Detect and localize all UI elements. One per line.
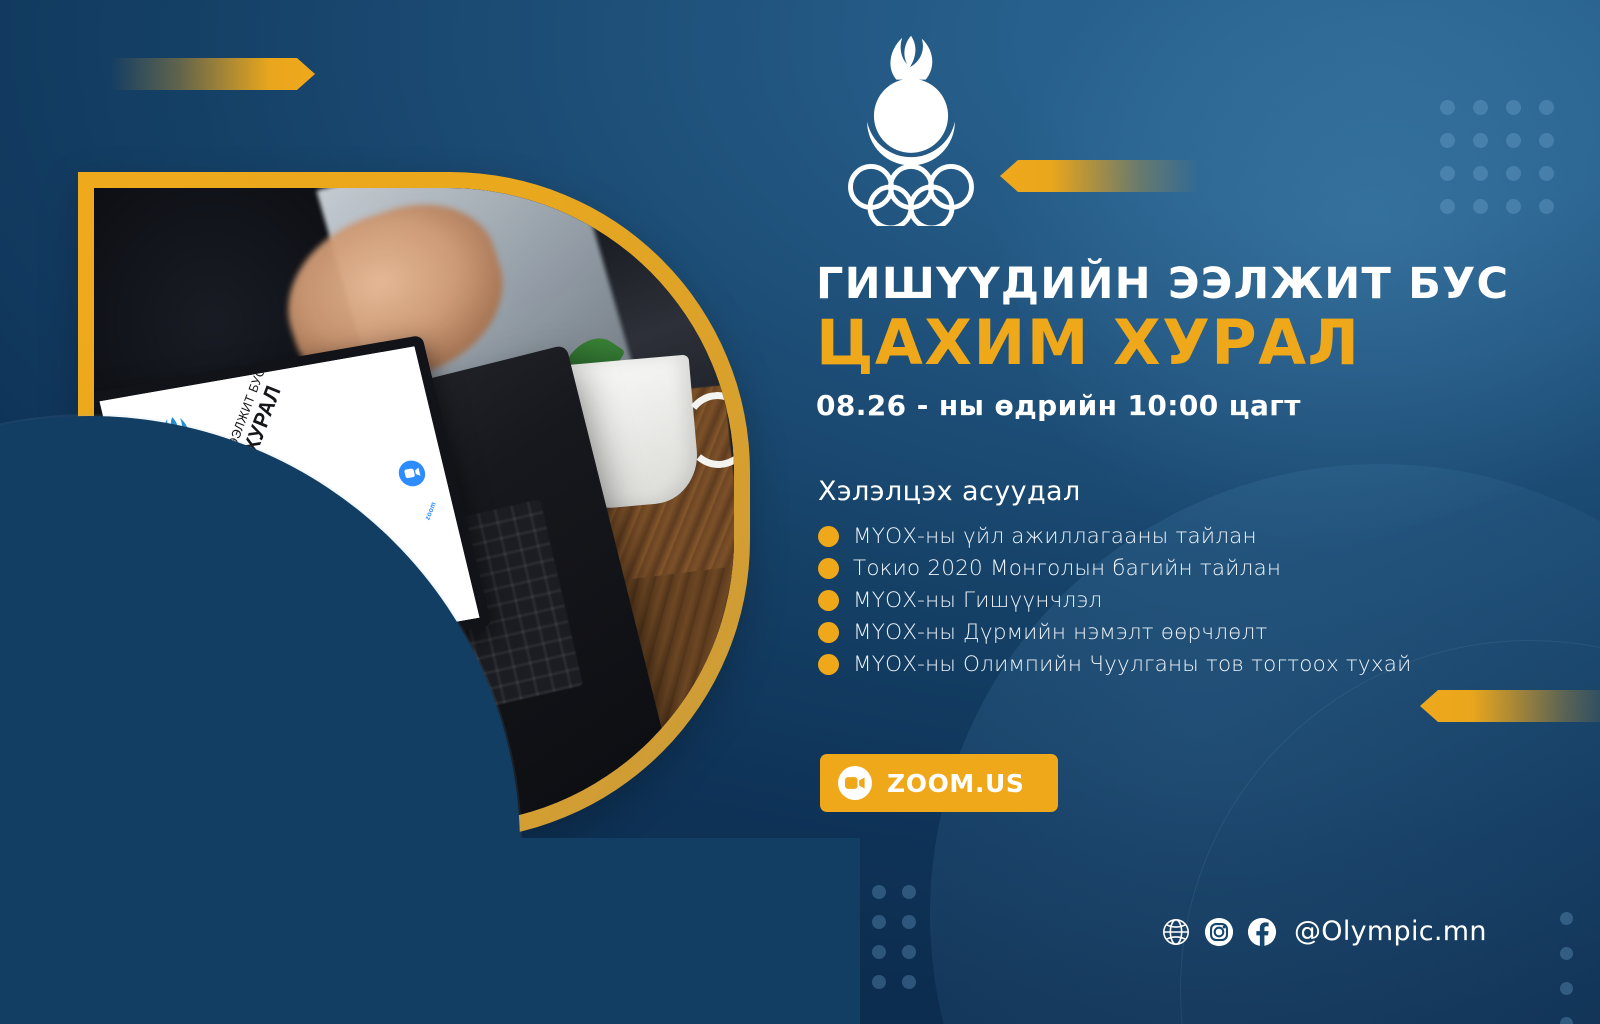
event-datetime: 08.26 - ны өдрийн 10:00 цагт — [816, 389, 1576, 422]
agenda-heading: Хэлэлцэх асуудал — [818, 476, 1578, 507]
facebook-icon[interactable] — [1247, 917, 1277, 947]
title-block: ГИШҮҮДИЙН ЭЭЛЖИТ БУС ЦАХИМ ХУРАЛ 08.26 -… — [816, 262, 1576, 422]
instagram-icon[interactable] — [1204, 917, 1234, 947]
agenda-item: МҮОХ-ны үйл ажиллагааны тайлан — [818, 524, 1578, 549]
bullet-icon — [818, 526, 839, 547]
bullet-icon — [818, 590, 839, 611]
agenda-item: МҮОХ-ны Олимпийн Чуулганы тов тогтоох ту… — [818, 652, 1578, 677]
zoom-us-button[interactable]: ZOOM.US — [820, 754, 1058, 812]
agenda-list: МҮОХ-ны үйл ажиллагааны тайланТокио 2020… — [818, 524, 1578, 677]
ribbon-top-left — [110, 58, 315, 90]
agenda-section: Хэлэлцэх асуудал МҮОХ-ны үйл ажиллагааны… — [818, 476, 1578, 684]
agenda-item: МҮОХ-ны Гишүүнчлэл — [818, 588, 1578, 613]
zoom-badge-label: zoom — [424, 500, 438, 520]
mongolian-olympic-committee-emblem — [816, 26, 1006, 226]
social-handle[interactable]: @Olympic.mn — [1294, 916, 1487, 947]
zoom-video-camera-icon — [838, 766, 872, 800]
agenda-item: Токио 2020 Монголын багийн тайлан — [818, 556, 1578, 581]
background-carve-fill — [0, 838, 860, 1024]
agenda-item-label: Токио 2020 Монголын багийн тайлан — [853, 556, 1281, 581]
agenda-item-label: МҮОХ-ны Дүрмийн нэмэлт өөрчлөлт — [853, 620, 1267, 645]
agenda-item: МҮОХ-ны Дүрмийн нэмэлт өөрчлөлт — [818, 620, 1578, 645]
poster-canvas: МҮОХ-ны ГИШҮҮДИЙН ЭЭЛЖИТ БУС ЦАХИМ ХУРАЛ… — [0, 0, 1600, 1024]
page-title-subline: ГИШҮҮДИЙН ЭЭЛЖИТ БУС — [816, 262, 1576, 308]
social-links: @Olympic.mn — [1161, 916, 1487, 947]
agenda-item-label: МҮОХ-ны үйл ажиллагааны тайлан — [853, 524, 1257, 549]
globe-icon[interactable] — [1161, 917, 1191, 947]
zoom-us-button-label: ZOOM.US — [887, 769, 1025, 798]
page-title: ЦАХИМ ХУРАЛ — [816, 310, 1576, 375]
zoom-badge-icon — [396, 458, 428, 488]
agenda-item-label: МҮОХ-ны Гишүүнчлэл — [853, 588, 1102, 613]
bullet-icon — [818, 558, 839, 579]
bullet-icon — [818, 622, 839, 643]
content-column: ГИШҮҮДИЙН ЭЭЛЖИТ БУС ЦАХИМ ХУРАЛ 08.26 -… — [806, 0, 1600, 1024]
bullet-icon — [818, 654, 839, 675]
agenda-item-label: МҮОХ-ны Олимпийн Чуулганы тов тогтоох ту… — [853, 652, 1412, 677]
